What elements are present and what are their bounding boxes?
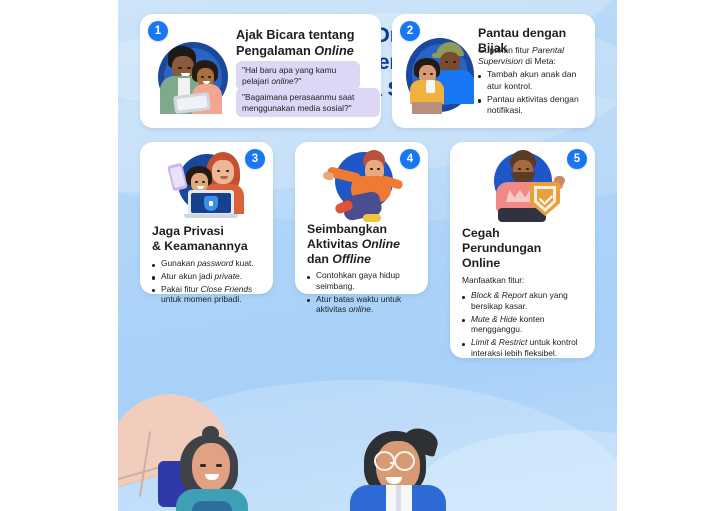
tip-card-4-title-line-3: dan Offline bbox=[307, 252, 400, 267]
list-item: Pakai fitur Close Friends untuk momen pr… bbox=[152, 284, 266, 306]
tip-card-3-title-line-1: Jaga Privasi bbox=[152, 224, 248, 239]
tip-card-4-title: Seimbangkan Aktivitas Online dan Offline bbox=[307, 222, 400, 267]
list-item: Block & Report akun yang bersikap kasar. bbox=[462, 290, 586, 312]
tip-card-4-bullet-list: Contohkan gaya hidup seimbang. Atur bata… bbox=[307, 270, 423, 317]
tip-card-1-quote-2: "Bagaimana perasaanmu saat menggunakan m… bbox=[236, 88, 380, 117]
tip-card-4[interactable]: 4 Seimbangkan Aktivitas Online dan Offli… bbox=[295, 142, 428, 294]
tip-card-5-bullet-list: Block & Report akun yang bersikap kasar.… bbox=[462, 290, 586, 361]
illustration-mother-teen-laptop-lock bbox=[162, 150, 254, 222]
list-item: Contohkan gaya hidup seimbang. bbox=[307, 270, 423, 292]
tip-card-2[interactable]: 2 Pantau dengan Bijak Gunakan fitur Pare… bbox=[392, 14, 595, 128]
list-item: Tambah akun anak dan atur kontrol. bbox=[478, 69, 590, 91]
tip-number-badge-5: 5 bbox=[567, 149, 587, 169]
list-item: Atur akun jadi private. bbox=[152, 271, 266, 282]
tip-card-5-title-line-1: Cegah bbox=[462, 226, 541, 241]
tip-card-1-quote-1: "Hal baru apa yang kamu pelajari online?… bbox=[236, 61, 360, 90]
decor-figure-man-with-glasses bbox=[346, 419, 466, 511]
tip-card-5-title-line-3: Online bbox=[462, 256, 541, 271]
tip-card-1-title: Ajak Bicara tentang Pengalaman Online bbox=[236, 28, 376, 59]
decor-figure-woman-with-umbrella bbox=[118, 401, 270, 511]
tip-card-1[interactable]: 1 Ajak Bicara tentang Pengalaman Online bbox=[140, 14, 381, 128]
tip-card-3-title-line-2: & Keamanannya bbox=[152, 239, 248, 254]
list-item: Limit & Restrict untuk kontrol interaksi… bbox=[462, 337, 586, 359]
illustration-person-with-shield bbox=[480, 148, 568, 224]
infographic-canvas: 5 Tips bagi Orang Tua agar Remaja Cerdas… bbox=[118, 0, 617, 511]
tip-card-2-intro: Gunakan fitur Parental Supervision di Me… bbox=[478, 45, 590, 67]
tip-card-4-title-line-1: Seimbangkan bbox=[307, 222, 400, 237]
illustration-father-and-daughter-with-tablet bbox=[154, 36, 230, 116]
tip-card-5[interactable]: 5 Cegah Perundungan Online Manfaatkan fi… bbox=[450, 142, 595, 358]
illustration-jumping-person bbox=[321, 148, 405, 222]
tip-card-2-bullet-list: Tambah akun anak dan atur kontrol. Panta… bbox=[478, 69, 590, 116]
tip-card-3-bullet-list: Gunakan password kuat. Atur akun jadi pr… bbox=[152, 258, 266, 307]
tip-card-3[interactable]: 3 Jaga Privasi bbox=[140, 142, 273, 294]
tip-card-2-body: Gunakan fitur Parental Supervision di Me… bbox=[478, 45, 590, 118]
list-item: Mute & Hide konten mengganggu. bbox=[462, 314, 586, 336]
tip-card-4-title-line-2: Aktivitas Online bbox=[307, 237, 400, 252]
list-item: Pantau aktivitas dengan notifikasi. bbox=[478, 94, 590, 116]
tip-card-5-intro: Manfaatkan fitur: bbox=[462, 275, 524, 286]
tip-card-5-title: Cegah Perundungan Online bbox=[462, 226, 541, 271]
tip-card-5-title-line-2: Perundungan bbox=[462, 241, 541, 256]
list-item: Gunakan password kuat. bbox=[152, 258, 266, 269]
list-item: Atur batas waktu untuk aktivitas online. bbox=[307, 294, 423, 316]
illustration-parent-and-teen-with-phone bbox=[404, 34, 476, 118]
tip-card-3-title: Jaga Privasi & Keamanannya bbox=[152, 224, 248, 254]
